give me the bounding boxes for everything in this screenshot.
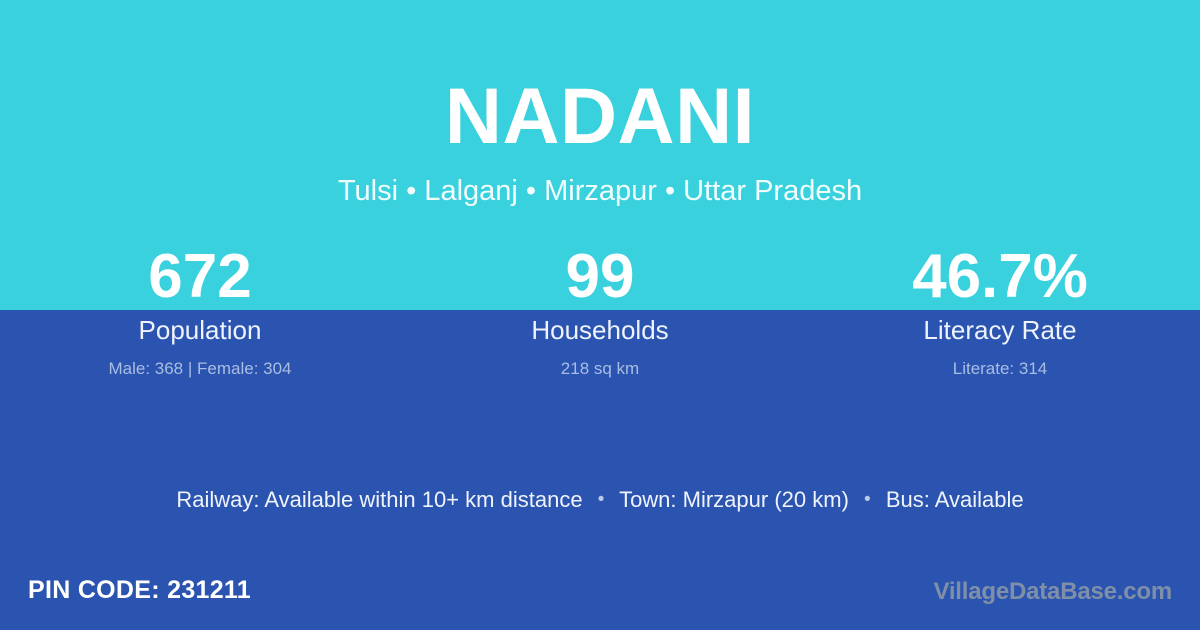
stat-sublabel: 218 sq km	[400, 346, 800, 380]
breadcrumb: Tulsi • Lalganj • Mirzapur • Uttar Prade…	[0, 155, 1200, 208]
amenity-separator: •	[589, 489, 614, 510]
stat-value: 99	[400, 243, 800, 310]
amenity-bus: Bus: Available	[886, 487, 1024, 512]
stat-population: 672 Population Male: 368 | Female: 304	[0, 243, 400, 380]
amenity-town: Town: Mirzapur (20 km)	[619, 487, 849, 512]
site-brand: VillageDataBase.com	[933, 577, 1172, 607]
amenity-railway: Railway: Available within 10+ km distanc…	[176, 487, 582, 512]
stat-label: Households	[400, 310, 800, 346]
pin-code: PIN CODE: 231211	[28, 575, 251, 605]
stat-sublabel: Literate: 314	[800, 346, 1200, 380]
amenity-separator: •	[855, 489, 880, 510]
stat-label: Population	[0, 310, 400, 346]
stats-row: 672 Population Male: 368 | Female: 304 9…	[0, 243, 1200, 380]
stat-value: 46.7%	[800, 243, 1200, 310]
stat-value: 672	[0, 243, 400, 310]
footer: PIN CODE: 231211 VillageDataBase.com	[0, 572, 1200, 630]
page-title: NADANI	[0, 0, 1200, 155]
amenities-row: Railway: Available within 10+ km distanc…	[0, 484, 1200, 518]
stat-sublabel: Male: 368 | Female: 304	[0, 346, 400, 380]
stat-label: Literacy Rate	[800, 310, 1200, 346]
village-info-card: NADANI Tulsi • Lalganj • Mirzapur • Utta…	[0, 0, 1200, 630]
stat-households: 99 Households 218 sq km	[400, 243, 800, 380]
hero-section: NADANI Tulsi • Lalganj • Mirzapur • Utta…	[0, 0, 1200, 208]
stat-literacy-rate: 46.7% Literacy Rate Literate: 314	[800, 243, 1200, 380]
